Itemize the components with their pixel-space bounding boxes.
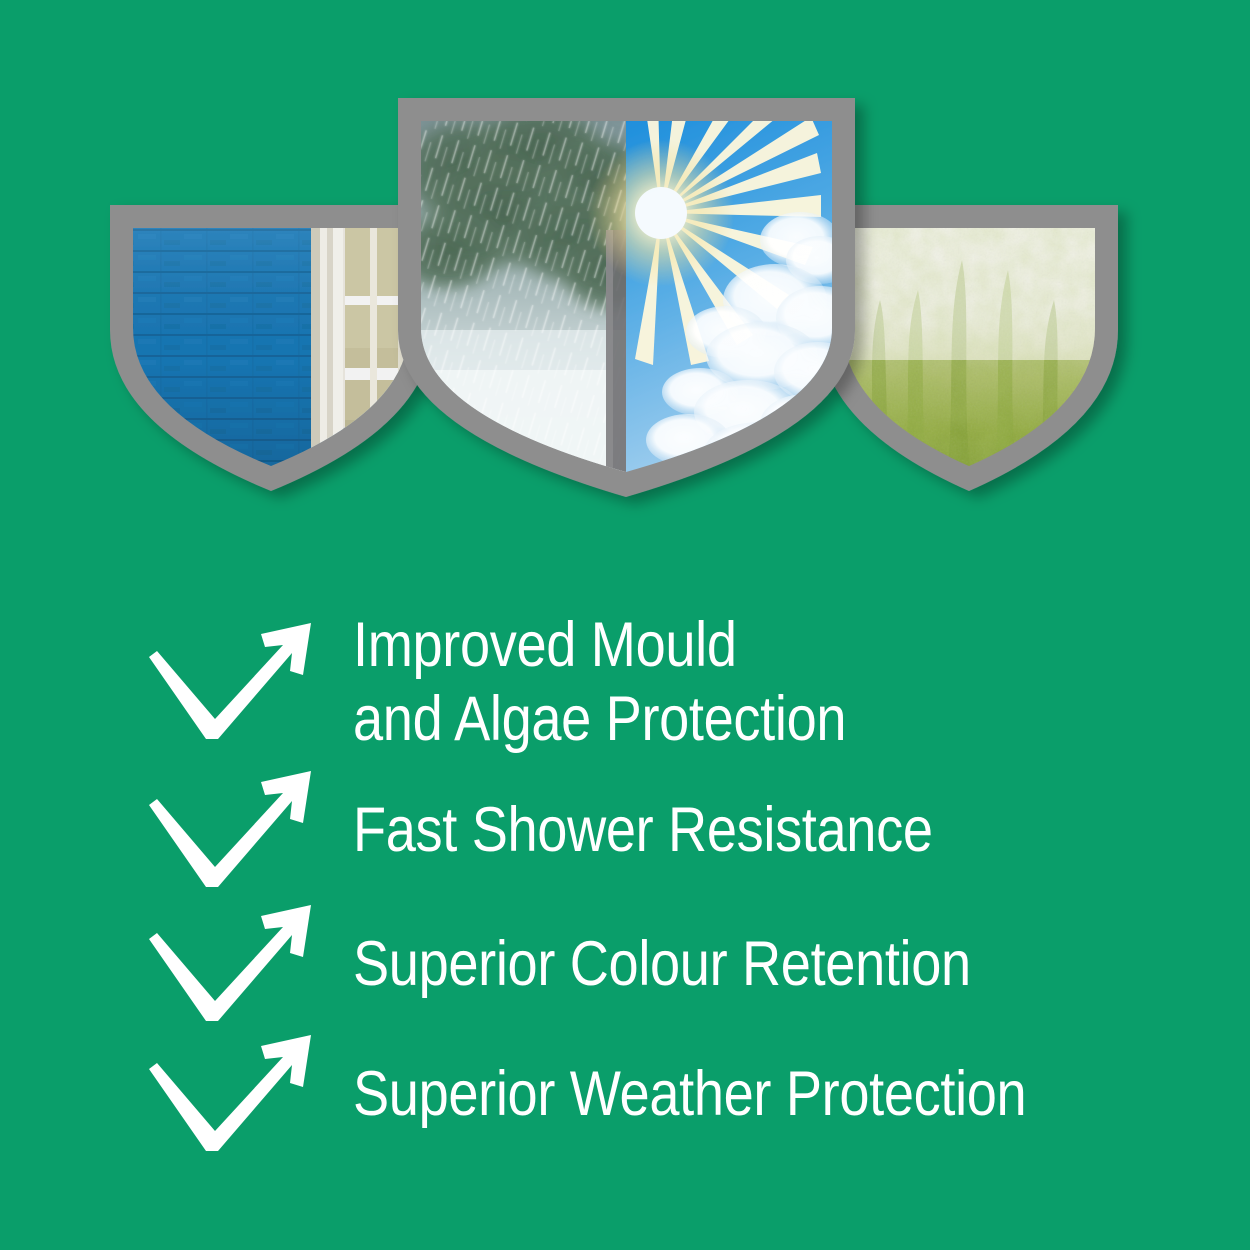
check-arrow-icon	[145, 763, 325, 898]
shield-center-rain-sun	[388, 61, 864, 497]
sun-sky-scene	[587, 61, 864, 482]
benefit-label: Superior Weather Protection	[353, 1058, 1026, 1132]
benefits-list: Improved Mould and Algae Protection Fast…	[0, 595, 1250, 1155]
benefit-item-weather-protection: Superior Weather Protection	[145, 1027, 1205, 1162]
benefit-label: Fast Shower Resistance	[353, 794, 933, 868]
shield-right-mould-algae	[820, 205, 1118, 491]
benefit-item-colour-retention: Superior Colour Retention	[145, 897, 1205, 1032]
benefit-label: Superior Colour Retention	[353, 928, 971, 1002]
check-arrow-icon	[145, 897, 325, 1032]
promo-poster: Improved Mould and Algae Protection Fast…	[0, 0, 1250, 1250]
check-arrow-icon	[145, 1027, 325, 1162]
check-arrow-icon	[145, 615, 325, 750]
benefit-label: Improved Mould and Algae Protection	[353, 609, 846, 756]
shield-left-blue-brick	[110, 205, 432, 491]
benefit-item-shower-resistance: Fast Shower Resistance	[145, 763, 1205, 898]
shield-cluster	[0, 0, 1250, 540]
benefit-item-mould-algae: Improved Mould and Algae Protection	[145, 609, 1205, 756]
